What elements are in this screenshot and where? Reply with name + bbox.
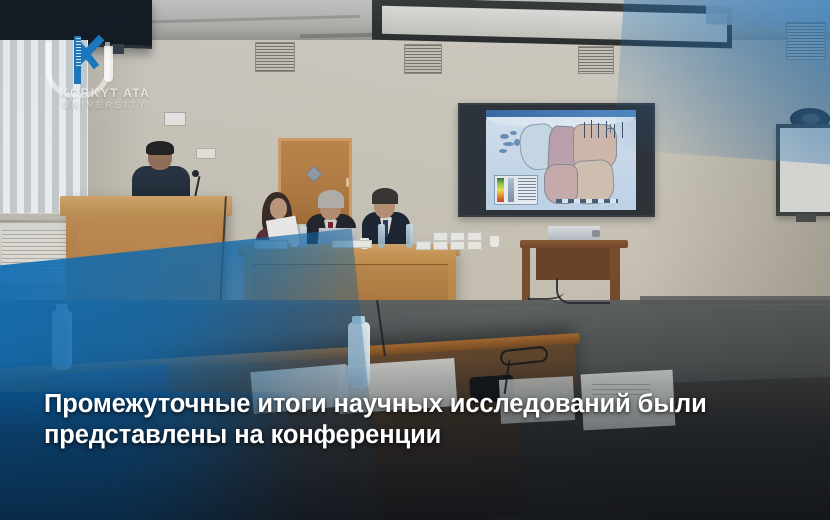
logo-ornament-dots [76,38,81,68]
logo-blade-icon [104,46,113,82]
university-logo: KORKYT ATA UNIVERSITY [46,34,158,112]
logo-k-monogram-icon [54,34,106,86]
logo-name-line-1: KORKYT ATA [46,86,164,100]
headline-text: Промежуточные итоги научных исследований… [44,389,804,451]
brand-overlay-top-right [613,0,830,170]
news-hero-image: KORKYT ATA UNIVERSITY Промежуточные итог… [0,0,830,520]
logo-name-line-2: UNIVERSITY [46,100,164,110]
